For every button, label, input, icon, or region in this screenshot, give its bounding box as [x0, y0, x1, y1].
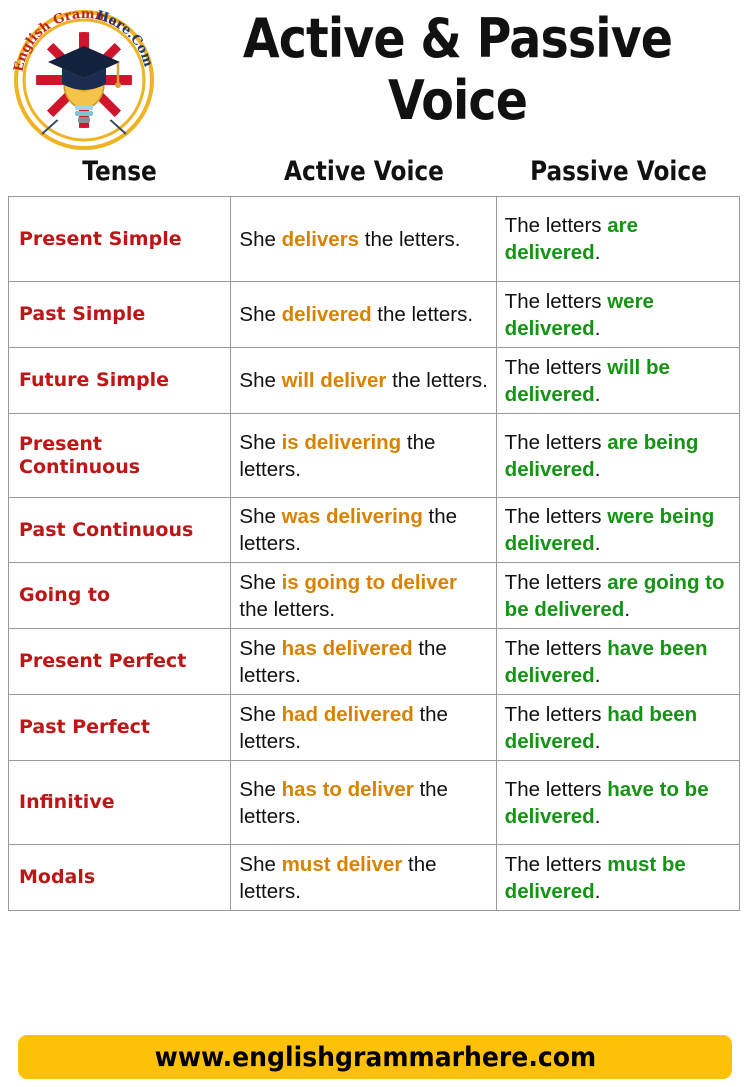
highlighted-verb: was delivering: [282, 505, 423, 528]
table-row: Going toShe is going to deliver the lett…: [9, 563, 739, 629]
tense-label: Present Simple: [19, 228, 224, 251]
passive-sentence: The letters were delivered.: [505, 288, 733, 342]
column-header-active: Active Voice: [250, 155, 479, 195]
cell-passive-voice: The letters will be delivered.: [497, 348, 739, 413]
sentence-text: .: [595, 241, 601, 264]
cell-passive-voice: The letters had been delivered.: [497, 695, 739, 760]
sentence-text: .: [595, 664, 601, 687]
sentence-text: She: [239, 637, 281, 660]
sentence-text: She: [239, 303, 281, 326]
highlighted-verb: is delivering: [282, 431, 402, 454]
tense-label: Past Perfect: [19, 716, 224, 739]
cell-passive-voice: The letters are being delivered.: [497, 414, 739, 497]
cell-tense: Future Simple: [9, 348, 231, 413]
cell-tense: Modals: [9, 845, 231, 910]
sentence-text: She: [239, 505, 281, 528]
sentence-text: the letters.: [372, 303, 473, 326]
cell-active-voice: She has delivered the letters.: [231, 629, 496, 694]
sentence-text: The letters: [505, 703, 608, 726]
cell-passive-voice: The letters have been delivered.: [497, 629, 739, 694]
sentence-text: The letters: [505, 356, 608, 379]
cell-passive-voice: The letters must be delivered.: [497, 845, 739, 910]
cell-tense: Past Perfect: [9, 695, 231, 760]
highlighted-verb: is going to deliver: [282, 571, 457, 594]
highlighted-verb: delivered: [282, 303, 372, 326]
cell-active-voice: She will deliver the letters.: [231, 348, 496, 413]
sentence-text: She: [239, 703, 281, 726]
active-sentence: She will deliver the letters.: [239, 367, 489, 394]
table-row: Present SimpleShe delivers the letters.T…: [9, 197, 739, 282]
highlighted-verb: has to deliver: [282, 778, 414, 801]
highlighted-verb: will deliver: [282, 369, 387, 392]
tense-label: Modals: [19, 866, 224, 889]
column-header-passive: Passive Voice: [514, 155, 723, 195]
table-row: Future SimpleShe will deliver the letter…: [9, 348, 739, 414]
sentence-text: The letters: [505, 637, 608, 660]
cell-passive-voice: The letters were being delivered.: [497, 498, 739, 562]
page-title-line-2: Voice: [209, 70, 706, 132]
sentence-text: The letters: [505, 505, 608, 528]
table-row: Present PerfectShe has delivered the let…: [9, 629, 739, 695]
sentence-text: .: [595, 880, 601, 903]
tense-label: Past Continuous: [19, 519, 224, 542]
tense-label: Past Simple: [19, 303, 224, 326]
site-url-banner[interactable]: www.englishgrammarhere.com: [18, 1035, 732, 1079]
tense-label: Present Perfect: [19, 650, 224, 673]
site-logo: English Grammar Here.Com: [8, 6, 160, 154]
active-sentence: She has to deliver the letters.: [239, 776, 489, 830]
cell-tense: Going to: [9, 563, 231, 628]
sentence-text: The letters: [505, 290, 608, 313]
sentence-text: .: [595, 458, 601, 481]
sentence-text: The letters: [505, 853, 608, 876]
cell-active-voice: She delivers the letters.: [231, 197, 496, 281]
sentence-text: The letters: [505, 571, 608, 594]
cell-active-voice: She is delivering the letters.: [231, 414, 496, 497]
page-header: English Grammar Here.Com Active & Passiv…: [0, 0, 750, 152]
sentence-text: She: [239, 228, 281, 251]
column-header-tense: Tense: [24, 155, 216, 195]
table-row: Past ContinuousShe was delivering the le…: [9, 498, 739, 563]
passive-sentence: The letters have been delivered.: [505, 635, 733, 689]
tense-label: Infinitive: [19, 791, 224, 814]
active-sentence: She is going to deliver the letters.: [239, 569, 489, 623]
cell-active-voice: She was delivering the letters.: [231, 498, 496, 562]
highlighted-verb: has delivered: [282, 637, 413, 660]
highlighted-verb: had delivered: [282, 703, 414, 726]
table-row: Present ContinuousShe is delivering the …: [9, 414, 739, 498]
passive-sentence: The letters are delivered.: [505, 212, 733, 266]
tense-label: Present Continuous: [19, 433, 224, 479]
highlighted-verb: must deliver: [282, 853, 403, 876]
cell-tense: Past Simple: [9, 282, 231, 347]
page-title: Active & Passive Voice: [175, 8, 740, 132]
cell-tense: Infinitive: [9, 761, 231, 844]
tense-label: Going to: [19, 584, 224, 607]
logo-badge-icon: English Grammar Here.Com: [8, 6, 160, 154]
passive-sentence: The letters were being delivered.: [505, 503, 733, 557]
sentence-text: She: [239, 778, 281, 801]
active-sentence: She delivered the letters.: [239, 301, 489, 328]
sentence-text: .: [595, 317, 601, 340]
cell-active-voice: She has to deliver the letters.: [231, 761, 496, 844]
sentence-text: She: [239, 369, 281, 392]
cell-active-voice: She had delivered the letters.: [231, 695, 496, 760]
sentence-text: .: [595, 532, 601, 555]
sentence-text: the letters.: [359, 228, 460, 251]
sentence-text: the letters.: [239, 598, 335, 621]
passive-sentence: The letters must be delivered.: [505, 851, 733, 905]
cell-tense: Past Continuous: [9, 498, 231, 562]
cell-tense: Present Perfect: [9, 629, 231, 694]
sentence-text: She: [239, 431, 281, 454]
cell-passive-voice: The letters are delivered.: [497, 197, 739, 281]
passive-sentence: The letters are being delivered.: [505, 429, 733, 483]
active-sentence: She has delivered the letters.: [239, 635, 489, 689]
active-sentence: She was delivering the letters.: [239, 503, 489, 557]
passive-sentence: The letters are going to be delivered.: [505, 569, 733, 623]
passive-sentence: The letters had been delivered.: [505, 701, 733, 755]
highlighted-verb: delivers: [282, 228, 360, 251]
sentence-text: .: [595, 383, 601, 406]
page-title-line-1: Active & Passive: [209, 8, 706, 70]
site-url-text: www.englishgrammarhere.com: [154, 1042, 596, 1073]
active-sentence: She had delivered the letters.: [239, 701, 489, 755]
sentence-text: .: [595, 805, 601, 828]
cell-active-voice: She is going to deliver the letters.: [231, 563, 496, 628]
sentence-text: She: [239, 571, 281, 594]
sentence-text: She: [239, 853, 281, 876]
cell-tense: Present Simple: [9, 197, 231, 281]
active-sentence: She delivers the letters.: [239, 226, 489, 253]
cell-passive-voice: The letters were delivered.: [497, 282, 739, 347]
sentence-text: .: [595, 730, 601, 753]
passive-sentence: The letters have to be delivered.: [505, 776, 733, 830]
table-row: Past SimpleShe delivered the letters.The…: [9, 282, 739, 348]
sentence-text: The letters: [505, 214, 608, 237]
cell-active-voice: She must deliver the letters.: [231, 845, 496, 910]
table-row: InfinitiveShe has to deliver the letters…: [9, 761, 739, 845]
table-row: Past PerfectShe had delivered the letter…: [9, 695, 739, 761]
passive-sentence: The letters will be delivered.: [505, 354, 733, 408]
active-passive-voice-table: Present SimpleShe delivers the letters.T…: [8, 196, 740, 911]
cell-passive-voice: The letters have to be delivered.: [497, 761, 739, 844]
table-row: ModalsShe must deliver the letters.The l…: [9, 845, 739, 911]
table-column-headers: Tense Active Voice Passive Voice: [8, 155, 740, 195]
sentence-text: the letters.: [386, 369, 487, 392]
sentence-text: .: [624, 598, 630, 621]
cell-passive-voice: The letters are going to be delivered.: [497, 563, 739, 628]
active-sentence: She is delivering the letters.: [239, 429, 489, 483]
sentence-text: The letters: [505, 778, 608, 801]
sentence-text: The letters: [505, 431, 608, 454]
cell-active-voice: She delivered the letters.: [231, 282, 496, 347]
cell-tense: Present Continuous: [9, 414, 231, 497]
active-sentence: She must deliver the letters.: [239, 851, 489, 905]
tense-label: Future Simple: [19, 369, 224, 392]
